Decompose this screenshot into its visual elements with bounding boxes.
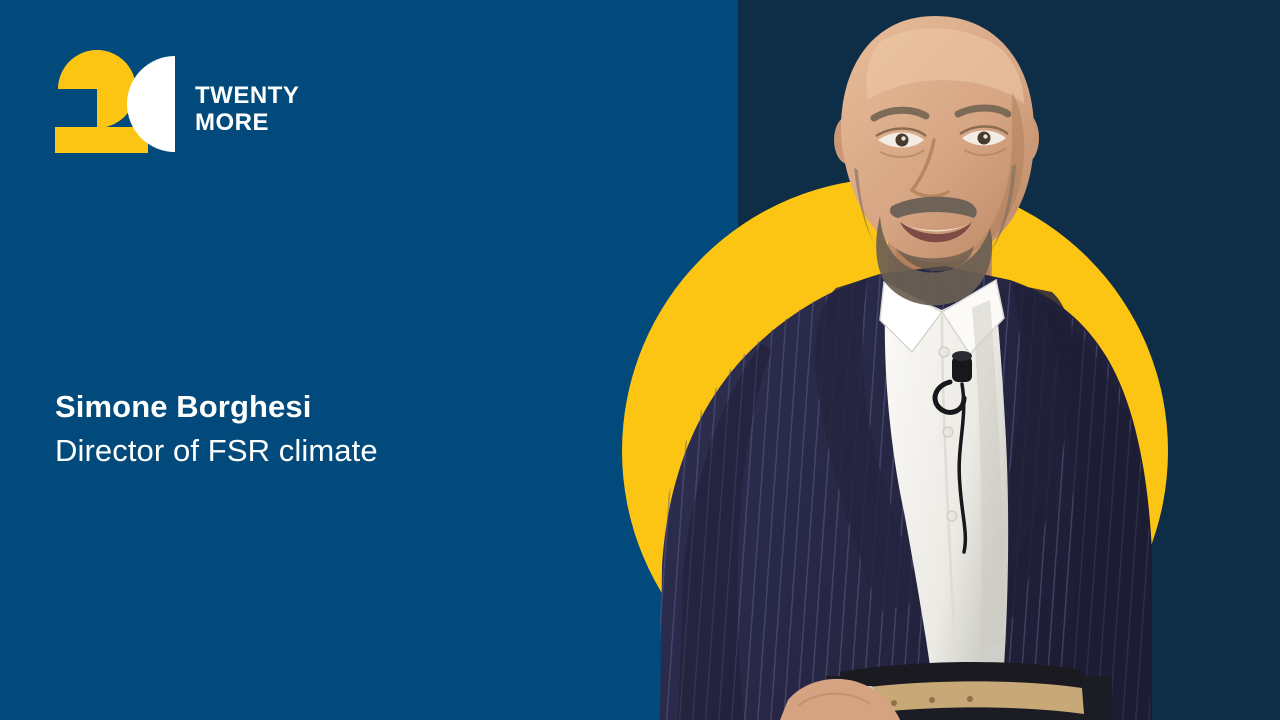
brand-wordmark: TWENTY MORE <box>195 82 299 136</box>
speaker-photo <box>612 0 1172 720</box>
wordmark-line-1: TWENTY <box>195 82 299 109</box>
twentymore-monogram-icon <box>52 50 180 155</box>
wordmark-line-2: MORE <box>195 109 299 136</box>
logo-disc-notch <box>58 89 97 128</box>
logo-base-bar <box>55 127 148 153</box>
brand-logo: TWENTY MORE <box>52 50 332 158</box>
speaker-role: Director of FSR climate <box>55 428 655 474</box>
speaker-caption: Simone Borghesi Director of FSR climate <box>55 386 655 474</box>
speaker-title-card: TWENTY MORE Simone Borghesi Director of … <box>0 0 1280 720</box>
speaker-name: Simone Borghesi <box>55 386 655 428</box>
